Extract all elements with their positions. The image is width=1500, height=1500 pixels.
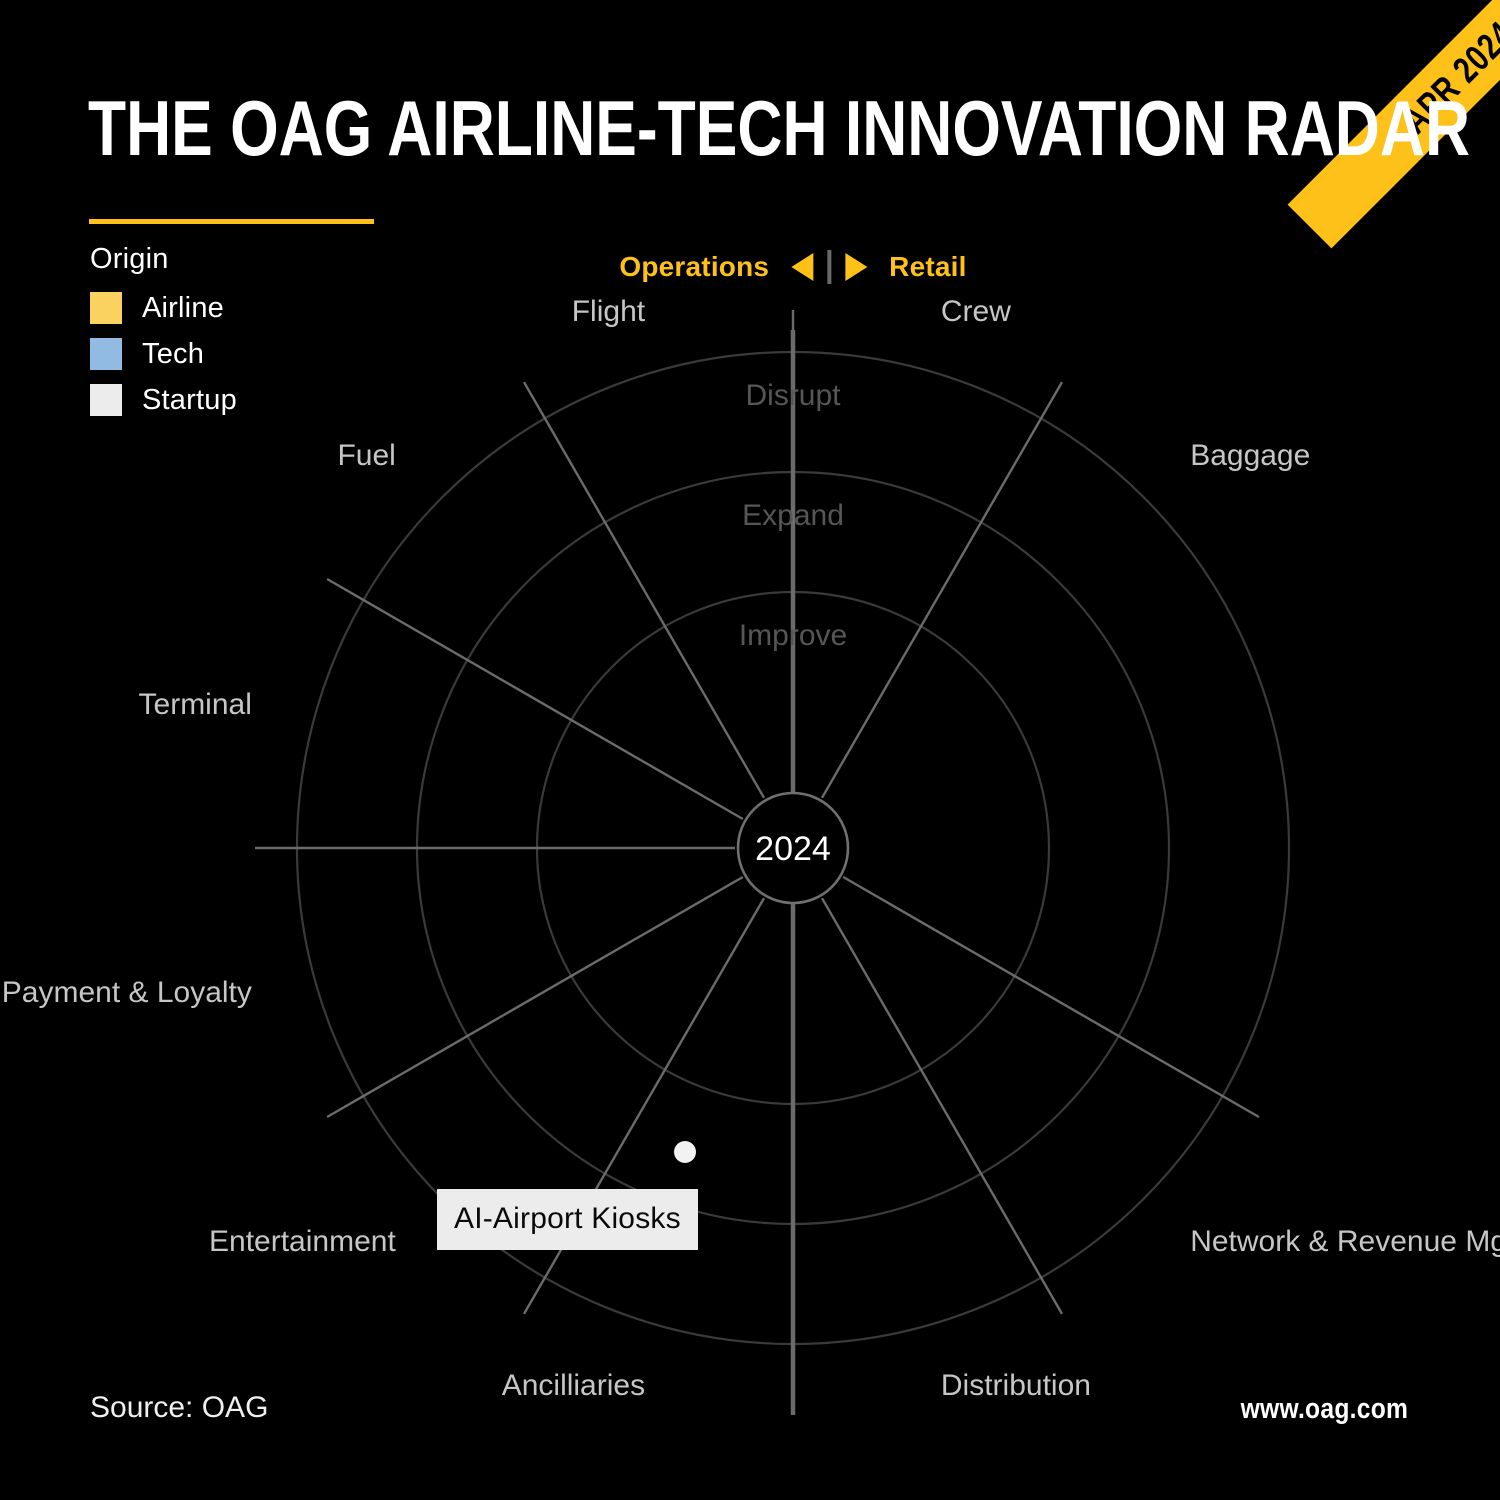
radar-spoke-flight — [524, 382, 764, 798]
radar-chart: ImproveExpandDisrupt 2024 BaggageCrewFli… — [0, 0, 1500, 1500]
sector-label-distribution: Distribution — [941, 1369, 1091, 1402]
sector-label-fuel: Fuel — [337, 439, 395, 472]
sector-label-crew: Crew — [941, 295, 1011, 328]
sector-label-baggage: Baggage — [1190, 439, 1310, 472]
website-url: www.oag.com — [1240, 1393, 1408, 1426]
radar-spoke-entertainment — [524, 898, 764, 1314]
sector-label-terminal: Terminal — [139, 688, 252, 721]
radar-spoke-payment-loyalty — [327, 877, 743, 1117]
ring-label-disrupt: Disrupt — [745, 379, 841, 412]
sector-label-ancilliaries: Ancilliaries — [502, 1369, 645, 1402]
radar-hub-label: 2024 — [755, 830, 831, 868]
data-point-label-ai-airport-kiosks[interactable]: AI-Airport Kiosks — [437, 1189, 698, 1250]
radar-spoke-fuel — [327, 579, 743, 819]
ring-label-expand: Expand — [742, 499, 844, 532]
radar-spoke-network-revenue-mgmt — [843, 877, 1259, 1117]
sector-label-flight: Flight — [572, 295, 646, 328]
sector-label-payment-loyalty: Payment & Loyalty — [2, 976, 252, 1009]
radar-spoke-distribution — [822, 898, 1062, 1314]
source-note: Source: OAG — [90, 1391, 268, 1425]
radar-data-points[interactable] — [674, 1141, 696, 1163]
radar-spoke-baggage — [822, 382, 1062, 798]
ring-label-improve: Improve — [739, 619, 847, 652]
sector-label-network-revenue-mgmt: Network & Revenue Mgmt — [1190, 1225, 1500, 1258]
data-point-ai-airport-kiosks[interactable] — [674, 1141, 696, 1163]
sector-label-entertainment: Entertainment — [209, 1225, 396, 1258]
